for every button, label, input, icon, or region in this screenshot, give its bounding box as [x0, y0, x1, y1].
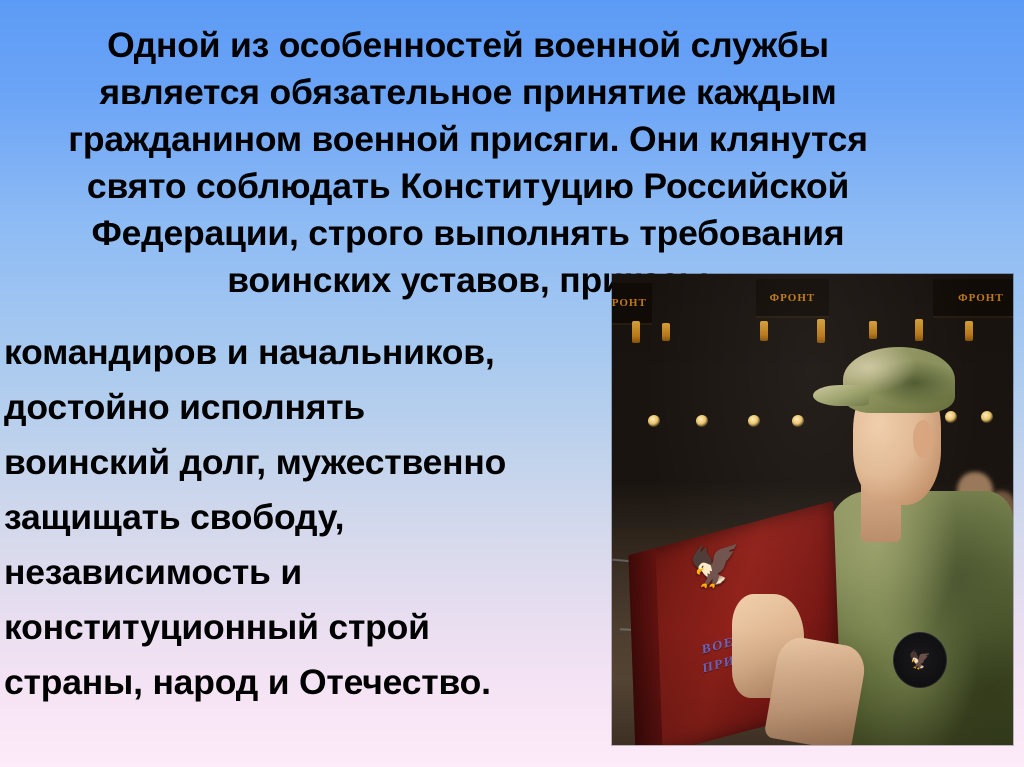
- soldier-ear: [913, 420, 933, 458]
- paragraph-bottom-line-4: защищать свободу,: [4, 490, 608, 545]
- paragraph-bottom-line-7: страны, народ и Отечество.: [4, 655, 608, 710]
- banner-tassel: [869, 321, 877, 339]
- hall-banner: ФРОНТ: [756, 279, 828, 319]
- hall-banner-label: ФРОНТ: [756, 292, 828, 304]
- paragraph-bottom-line-2: достойно исполнять: [4, 380, 608, 435]
- oath-book-spine: [629, 548, 663, 745]
- hall-banner-label: ФРОНТ: [933, 292, 1013, 304]
- oath-photo: ФРОНТ ФРОНТ ФРОНТ: [612, 274, 1013, 745]
- paragraph-bottom-line-3: воинский долг, мужественно: [4, 435, 608, 490]
- paragraph-top: Одной из особенностей военной службы явл…: [14, 22, 922, 304]
- banner-tassel: [760, 321, 768, 341]
- paragraph-top-line-3: гражданином военной присяги. Они клянутс…: [14, 116, 922, 163]
- hall-banner: ФРОНТ: [933, 279, 1013, 319]
- banner-tassel: [662, 323, 670, 341]
- hall-lamp: [981, 411, 993, 423]
- bird-icon: 🦅: [909, 651, 931, 669]
- paragraph-top-line-5: Федерации, строго выполнять требования: [14, 210, 922, 257]
- hall-banner-label: ФРОНТ: [612, 297, 652, 309]
- oath-photo-scene: ФРОНТ ФРОНТ ФРОНТ: [612, 274, 1013, 745]
- paragraph-top-line-2: является обязательное принятие каждым: [14, 69, 922, 116]
- unit-patch: 🦅: [893, 632, 947, 688]
- camouflage-cap-brim: [813, 385, 869, 407]
- banner-tassel: [817, 319, 825, 343]
- hall-lamp: [945, 411, 957, 423]
- slide: Одной из особенностей военной службы явл…: [0, 0, 1024, 767]
- hall-banner: ФРОНТ: [612, 283, 652, 325]
- paragraph-bottom-line-6: конституционный строй: [4, 600, 608, 655]
- paragraph-bottom-line-5: независимость и: [4, 545, 608, 600]
- paragraph-top-line-4: свято соблюдать Конституцию Российской: [14, 163, 922, 210]
- paragraph-bottom: командиров и начальников, достойно испол…: [4, 325, 608, 710]
- banner-tassel: [632, 321, 640, 343]
- paragraph-top-line-1: Одной из особенностей военной службы: [14, 22, 922, 69]
- banner-tassel: [915, 319, 923, 341]
- paragraph-bottom-line-1: командиров и начальников,: [4, 325, 608, 380]
- banner-tassel: [965, 321, 973, 341]
- soldier-forearm: [764, 635, 869, 745]
